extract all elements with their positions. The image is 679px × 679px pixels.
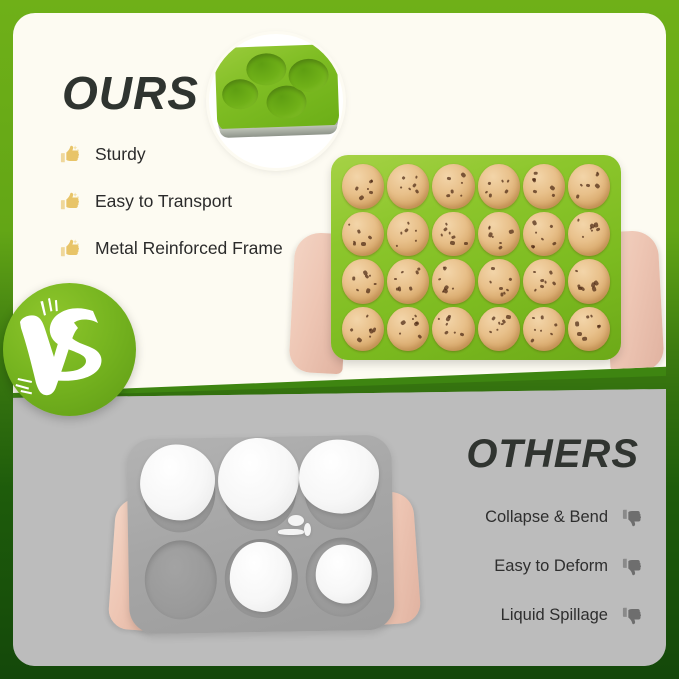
chocolate-chip [369, 190, 374, 194]
chocolate-chip [355, 186, 359, 191]
chocolate-chip [365, 315, 368, 318]
chocolate-chip [372, 327, 377, 332]
chocolate-chip [408, 187, 412, 191]
chocolate-chip [585, 316, 589, 319]
chocolate-chip [446, 177, 450, 180]
comparison-infographic: OURS Sturdy Easy to Transp [0, 0, 679, 679]
chocolate-chip [400, 231, 402, 234]
chocolate-chip [413, 314, 417, 318]
chocolate-chip [394, 278, 397, 280]
chocolate-chip [503, 292, 506, 295]
chocolate-chip [460, 332, 465, 336]
chocolate-chip [508, 229, 514, 234]
chocolate-chip [505, 315, 510, 319]
chocolate-chip [415, 189, 420, 194]
drawback-label: Liquid Spillage [501, 606, 608, 625]
muffin [478, 307, 520, 352]
chocolate-chip [438, 318, 441, 321]
feature-label: Sturdy [95, 144, 146, 165]
chocolate-chip [501, 179, 504, 183]
chocolate-chip [506, 180, 509, 183]
chocolate-chip [443, 330, 448, 335]
chocolate-chip [414, 239, 417, 242]
chocolate-chip [452, 235, 456, 239]
chocolate-chip [450, 241, 456, 246]
muffin [478, 164, 520, 209]
others-title: OTHERS [466, 432, 639, 477]
feature-label: Easy to Transport [95, 191, 232, 212]
muffin [478, 259, 520, 304]
chocolate-chip [496, 329, 498, 331]
chocolate-chip [554, 323, 558, 326]
chocolate-chip [581, 235, 584, 238]
chocolate-chip [464, 242, 468, 245]
muffin [432, 164, 474, 209]
inset-cup [222, 79, 259, 110]
chocolate-chip [368, 180, 373, 185]
chocolate-chip [350, 328, 354, 332]
chocolate-chip [357, 229, 361, 234]
muffin [523, 164, 565, 209]
chocolate-chip [596, 171, 599, 173]
muffin [568, 212, 610, 257]
chocolate-chip [396, 244, 399, 247]
chocolate-chip [445, 222, 448, 225]
chocolate-chip [580, 286, 586, 292]
chocolate-chip [492, 235, 494, 237]
chocolate-chip [485, 190, 489, 193]
chocolate-chip [444, 322, 448, 326]
mold-cup [224, 538, 298, 619]
muffin [568, 259, 610, 304]
vs-lettering [3, 283, 136, 416]
chocolate-chip [415, 176, 418, 179]
chocolate-chip [499, 242, 502, 245]
inset-cup [288, 58, 329, 92]
chocolate-chip [413, 321, 419, 327]
muffin [387, 212, 429, 257]
green-muffin-tray [331, 155, 621, 360]
chocolate-chip [454, 332, 456, 334]
chocolate-chip [550, 225, 554, 229]
thumbs-down-icon [621, 555, 643, 578]
tray-closeup-inset [209, 34, 343, 168]
chocolate-chip [357, 336, 363, 342]
chocolate-chip [506, 288, 509, 291]
muffin [568, 164, 610, 209]
chocolate-chip [451, 190, 455, 195]
drawback-label: Collapse & Bend [485, 508, 608, 527]
chocolate-chip [590, 315, 593, 319]
chocolate-chip [460, 181, 463, 184]
chocolate-chip [549, 185, 555, 191]
chocolate-chip [415, 271, 419, 276]
thumbs-up-icon [59, 190, 81, 213]
chocolate-chip [440, 233, 443, 237]
chocolate-chip [361, 242, 366, 246]
mold-cup [223, 450, 297, 531]
chocolate-chip [443, 266, 448, 271]
chocolate-chip [489, 280, 492, 284]
thumbs-up-icon [59, 237, 81, 260]
chocolate-chip [533, 271, 536, 273]
chocolate-chip [359, 195, 365, 201]
white-batter [217, 438, 299, 522]
chocolate-chip [443, 227, 447, 231]
muffin [387, 259, 429, 304]
mold-cup [143, 452, 217, 533]
muffin [568, 307, 610, 352]
feature-label: Metal Reinforced Frame [95, 238, 283, 259]
chocolate-chip [448, 231, 450, 234]
chocolate-chip [505, 189, 509, 193]
chocolate-chip [488, 181, 492, 185]
chocolate-chip [597, 325, 600, 327]
chocolate-chip [544, 281, 547, 284]
chocolate-chip [540, 330, 542, 333]
chocolate-chip [533, 329, 536, 332]
chocolate-chip [369, 275, 371, 277]
muffin [342, 307, 384, 352]
chocolate-chip [534, 288, 537, 291]
chocolate-chip [448, 314, 452, 318]
chocolate-chip [577, 332, 582, 336]
chocolate-chip [400, 270, 403, 273]
chocolate-chip [552, 241, 557, 246]
muffin [432, 212, 474, 257]
chocolate-chip [586, 184, 591, 188]
chocolate-chip [413, 183, 417, 187]
ours-title: OURS [62, 66, 199, 120]
mold-cup-grid [143, 449, 379, 620]
chocolate-chip [582, 337, 588, 341]
inset-tray-body [215, 44, 340, 132]
chocolate-chip [596, 227, 601, 231]
chocolate-chip [369, 336, 372, 339]
muffin [387, 307, 429, 352]
chocolate-chip [491, 266, 495, 269]
mold-cup [305, 536, 379, 617]
white-batter [315, 545, 372, 605]
muffin [342, 259, 384, 304]
chocolate-chip [446, 194, 451, 198]
chocolate-chip [532, 317, 535, 319]
thumbs-down-icon [621, 506, 643, 529]
chocolate-chip [541, 315, 545, 320]
chocolate-chip [415, 229, 417, 232]
chocolate-chip [499, 287, 503, 290]
chocolate-chip [540, 285, 545, 289]
white-batter [140, 444, 217, 522]
chocolate-chip [591, 230, 594, 233]
chocolate-chip [541, 238, 544, 241]
inset-cup [246, 53, 287, 86]
chocolate-chip [488, 226, 490, 229]
chocolate-chip [452, 288, 455, 290]
drawback-item: Liquid Spillage [501, 603, 643, 627]
chocolate-chip [460, 172, 466, 178]
chocolate-chip [366, 288, 371, 294]
chocolate-chip [374, 283, 377, 285]
muffin-grid [342, 164, 610, 351]
muffin [432, 259, 474, 304]
chocolate-chip [595, 182, 601, 188]
chocolate-chip [550, 333, 554, 336]
chocolate-chip [531, 220, 537, 226]
chocolate-chip [574, 270, 578, 273]
chocolate-chip [492, 316, 496, 320]
mold-cup [144, 539, 218, 620]
batter-spill [278, 529, 304, 535]
thumbs-up-icon [59, 143, 81, 166]
chocolate-chip [575, 321, 579, 326]
chocolate-chip [406, 222, 409, 225]
chocolate-chip [549, 270, 553, 275]
muffin [387, 164, 429, 209]
chocolate-chip [356, 288, 359, 291]
drawback-label: Easy to Deform [494, 557, 608, 576]
chocolate-chip [532, 178, 536, 183]
white-batter [229, 541, 292, 612]
chocolate-chip [529, 338, 534, 343]
grey-silicone-mold [128, 437, 393, 632]
others-drawback-list: Collapse & Bend Easy to Deform Liquid Sp… [485, 505, 643, 627]
chocolate-chip [498, 321, 501, 324]
vs-badge [3, 283, 136, 416]
chocolate-chip [576, 194, 580, 198]
chocolate-chip [502, 319, 506, 324]
chocolate-chip [460, 194, 463, 196]
chocolate-chip [400, 187, 402, 189]
muffin [523, 307, 565, 352]
muffin [432, 307, 474, 352]
drawback-item: Easy to Deform [494, 554, 643, 578]
chocolate-chip [534, 172, 538, 175]
chocolate-chip [404, 228, 408, 232]
chocolate-chip [409, 287, 413, 291]
drawback-item: Collapse & Bend [485, 505, 643, 529]
chocolate-chip [579, 184, 582, 187]
white-batter [299, 439, 380, 514]
chocolate-chip [438, 278, 442, 281]
chocolate-chip [348, 223, 351, 226]
thumbs-down-icon [621, 604, 643, 627]
chocolate-chip [443, 284, 449, 290]
batter-spill [288, 515, 304, 526]
muffin [342, 212, 384, 257]
chocolate-chip [577, 219, 580, 222]
feature-item: Metal Reinforced Frame [59, 235, 283, 261]
chocolate-chip [489, 331, 493, 335]
muffin [342, 164, 384, 209]
chocolate-chip [418, 334, 422, 338]
chocolate-chip [509, 277, 513, 281]
chocolate-chip [412, 318, 414, 320]
chocolate-chip [399, 333, 401, 335]
chocolate-chip [367, 235, 372, 240]
chocolate-chip [592, 287, 597, 292]
feature-item: Easy to Transport [59, 188, 283, 214]
batter-spill [304, 523, 311, 536]
chocolate-chip [352, 276, 355, 280]
chocolate-chip [535, 231, 537, 234]
mold-cup [303, 449, 377, 530]
chocolate-chip [552, 193, 556, 197]
chocolate-chip [533, 190, 537, 194]
chocolate-chip [402, 176, 406, 180]
chocolate-chip [497, 245, 502, 250]
chocolate-chip [489, 193, 493, 198]
chocolate-chip [400, 320, 406, 326]
muffin [523, 259, 565, 304]
chocolate-chip [531, 245, 534, 248]
muffin [478, 212, 520, 257]
chocolate-chip [551, 281, 556, 286]
muffin [523, 212, 565, 257]
